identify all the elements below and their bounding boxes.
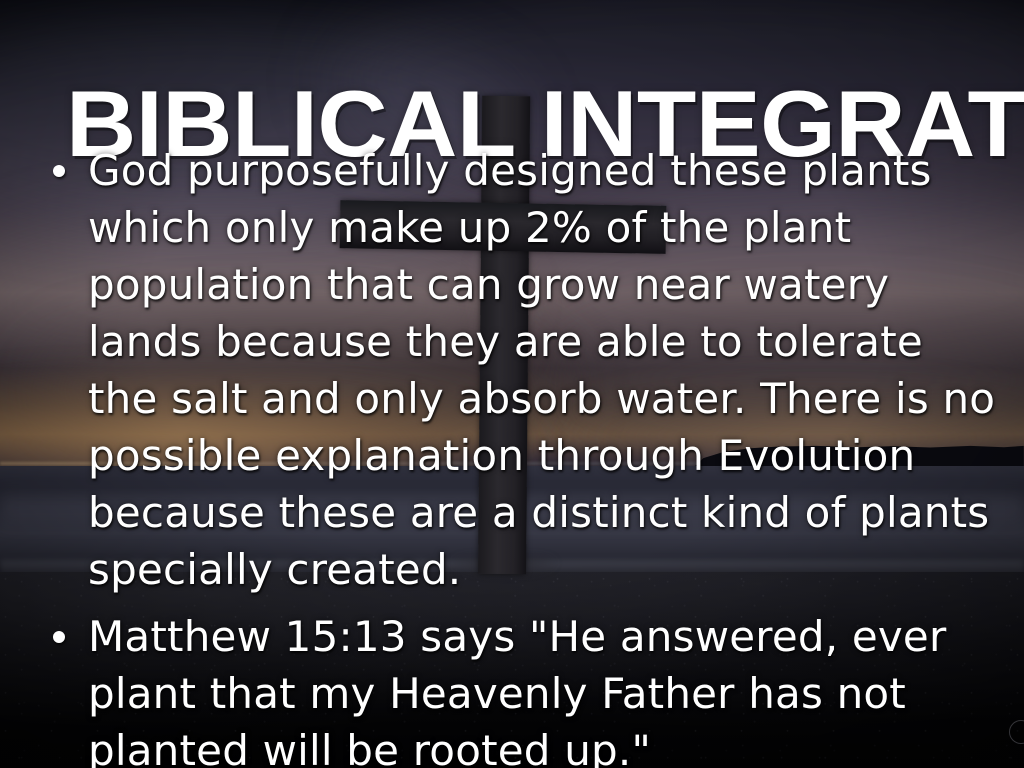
watermark-ring-icon: [1009, 720, 1024, 744]
bullet-text: God purposefully designed these plants w…: [88, 146, 995, 594]
bullet-point-icon: [53, 165, 65, 177]
bullet-text: Matthew 15:13 says "He answered, ever pl…: [88, 612, 946, 768]
presentation-slide: BIBLICAL INTEGRATION God purposefully de…: [0, 0, 1024, 768]
slide-content: BIBLICAL INTEGRATION God purposefully de…: [0, 0, 1024, 768]
bullet-item-matthew-quote: Matthew 15:13 says "He answered, ever pl…: [38, 608, 998, 768]
bullet-list: God purposefully designed these plants w…: [38, 142, 998, 768]
bullet-point-icon: [53, 631, 65, 643]
bullet-item-designed-plants: God purposefully designed these plants w…: [38, 142, 998, 598]
